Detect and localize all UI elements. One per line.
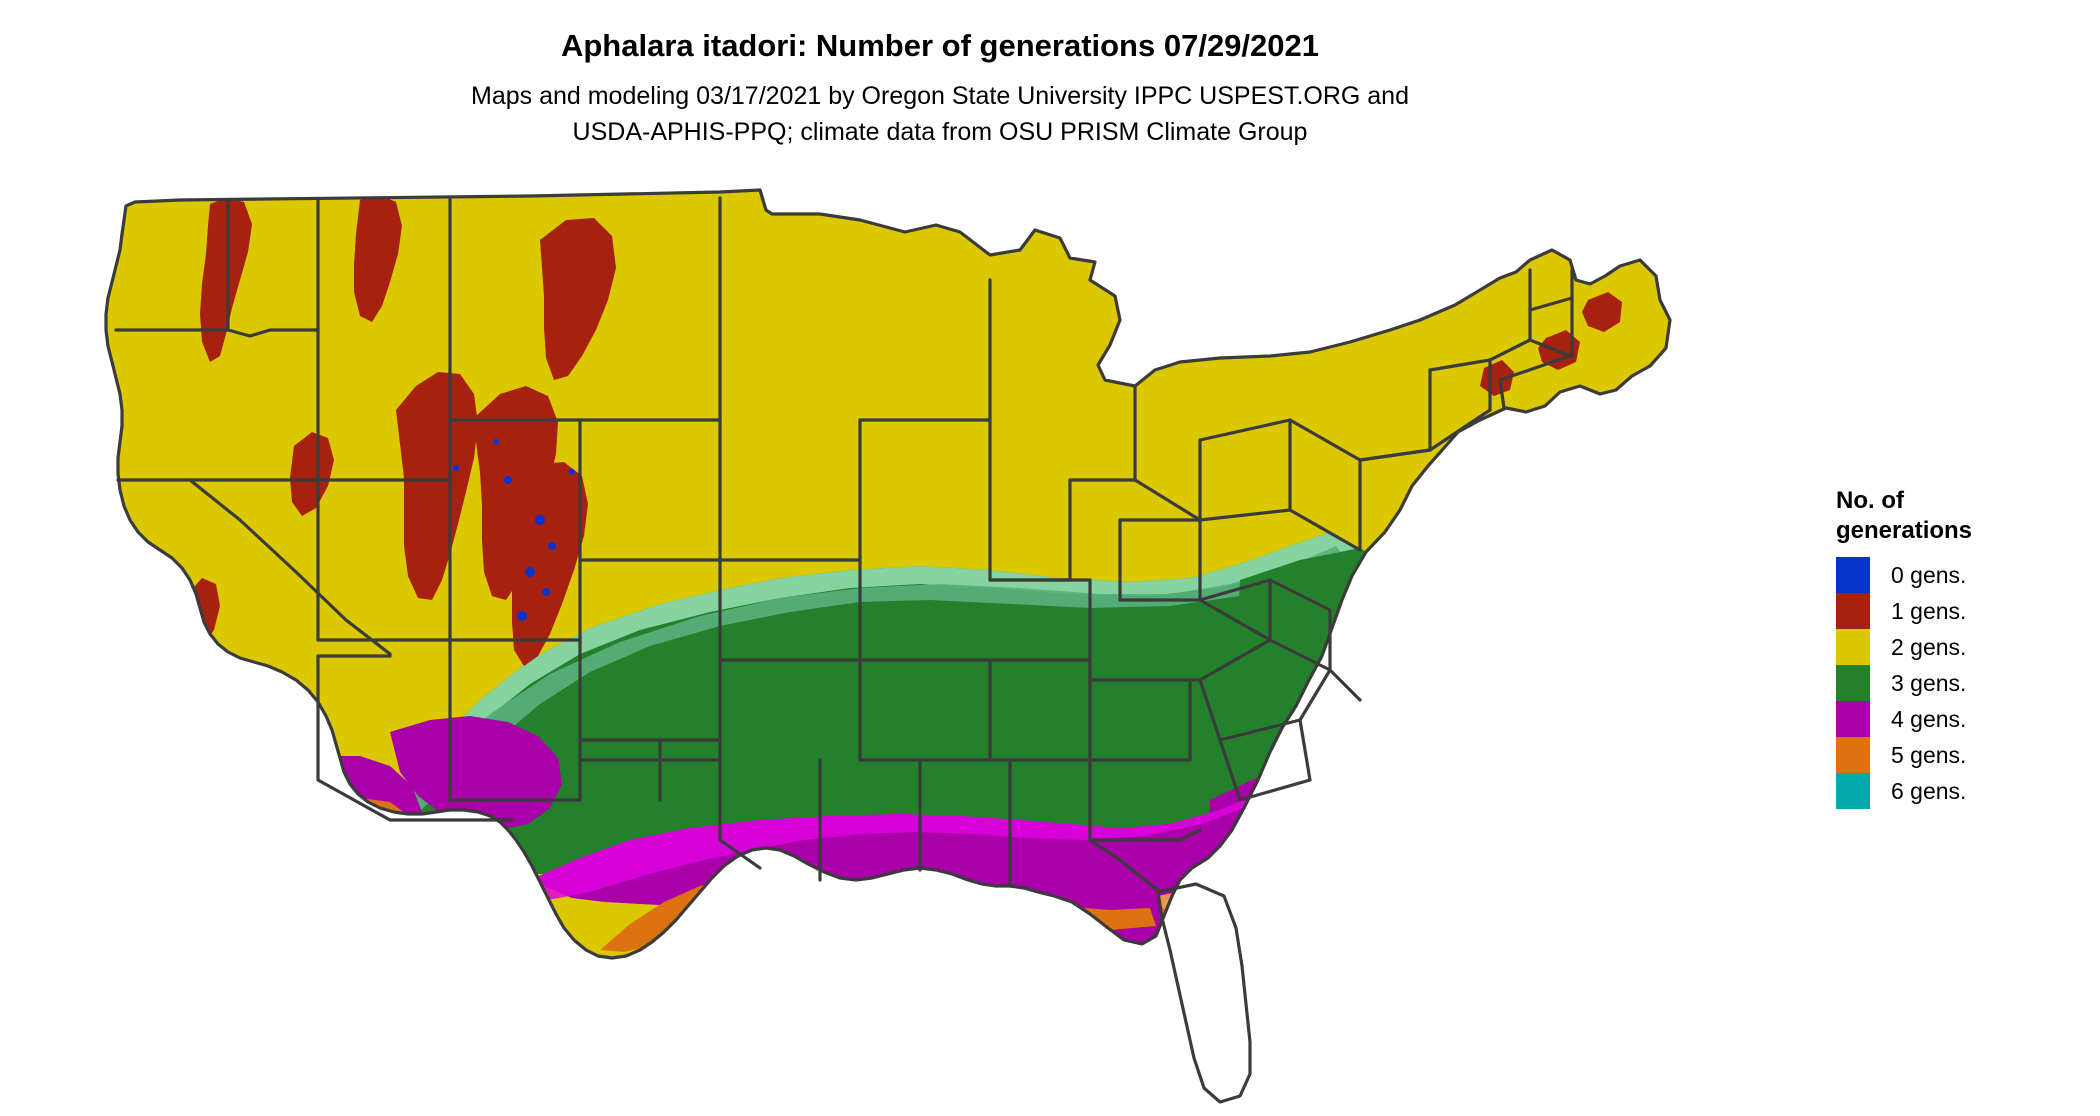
subtitle-line-1: Maps and modeling 03/17/2021 by Oregon S… bbox=[0, 78, 1880, 114]
legend-swatch-1-gens bbox=[1836, 593, 1870, 629]
legend-label-2-gens: 2 gens. bbox=[1891, 634, 1966, 661]
legend-item-5-gens[interactable]: 5 gens. bbox=[1836, 737, 2066, 773]
legend-label-6-gens: 6 gens. bbox=[1891, 778, 1966, 805]
legend-title: No. of generations bbox=[1836, 486, 2066, 546]
map-page: Aphalara itadori: Number of generations … bbox=[0, 0, 2100, 1116]
legend-swatch-5-gens bbox=[1836, 737, 1870, 773]
legend-swatch-3-gens bbox=[1836, 665, 1870, 701]
legend-label-0-gens: 0 gens. bbox=[1891, 562, 1966, 589]
legend-swatch-2-gens bbox=[1836, 629, 1870, 665]
legend-item-6-gens[interactable]: 6 gens. bbox=[1836, 773, 2066, 809]
legend-label-4-gens: 4 gens. bbox=[1891, 706, 1966, 733]
legend-label-5-gens: 5 gens. bbox=[1891, 742, 1966, 769]
map-legend: No. of generations 0 gens.1 gens.2 gens.… bbox=[1836, 486, 2066, 809]
subtitle-line-2: USDA-APHIS-PPQ; climate data from OSU PR… bbox=[0, 114, 1880, 150]
legend-label-1-gens: 1 gens. bbox=[1891, 598, 1966, 625]
title-block: Aphalara itadori: Number of generations … bbox=[0, 26, 1880, 150]
page-subtitle: Maps and modeling 03/17/2021 by Oregon S… bbox=[0, 78, 1880, 150]
legend-items: 0 gens.1 gens.2 gens.3 gens.4 gens.5 gen… bbox=[1836, 557, 2066, 809]
legend-item-0-gens[interactable]: 0 gens. bbox=[1836, 557, 2066, 593]
legend-swatch-0-gens bbox=[1836, 557, 1870, 593]
legend-item-3-gens[interactable]: 3 gens. bbox=[1836, 665, 2066, 701]
page-title: Aphalara itadori: Number of generations … bbox=[0, 26, 1880, 66]
legend-swatch-6-gens bbox=[1836, 773, 1870, 809]
legend-item-1-gens[interactable]: 1 gens. bbox=[1836, 593, 2066, 629]
legend-label-3-gens: 3 gens. bbox=[1891, 670, 1966, 697]
legend-item-2-gens[interactable]: 2 gens. bbox=[1836, 629, 2066, 665]
map-canvas bbox=[60, 180, 1820, 1110]
map-raster-layers bbox=[60, 180, 1820, 1110]
legend-item-4-gens[interactable]: 4 gens. bbox=[1836, 701, 2066, 737]
us-generations-choropleth bbox=[60, 180, 1820, 1110]
legend-swatch-4-gens bbox=[1836, 701, 1870, 737]
